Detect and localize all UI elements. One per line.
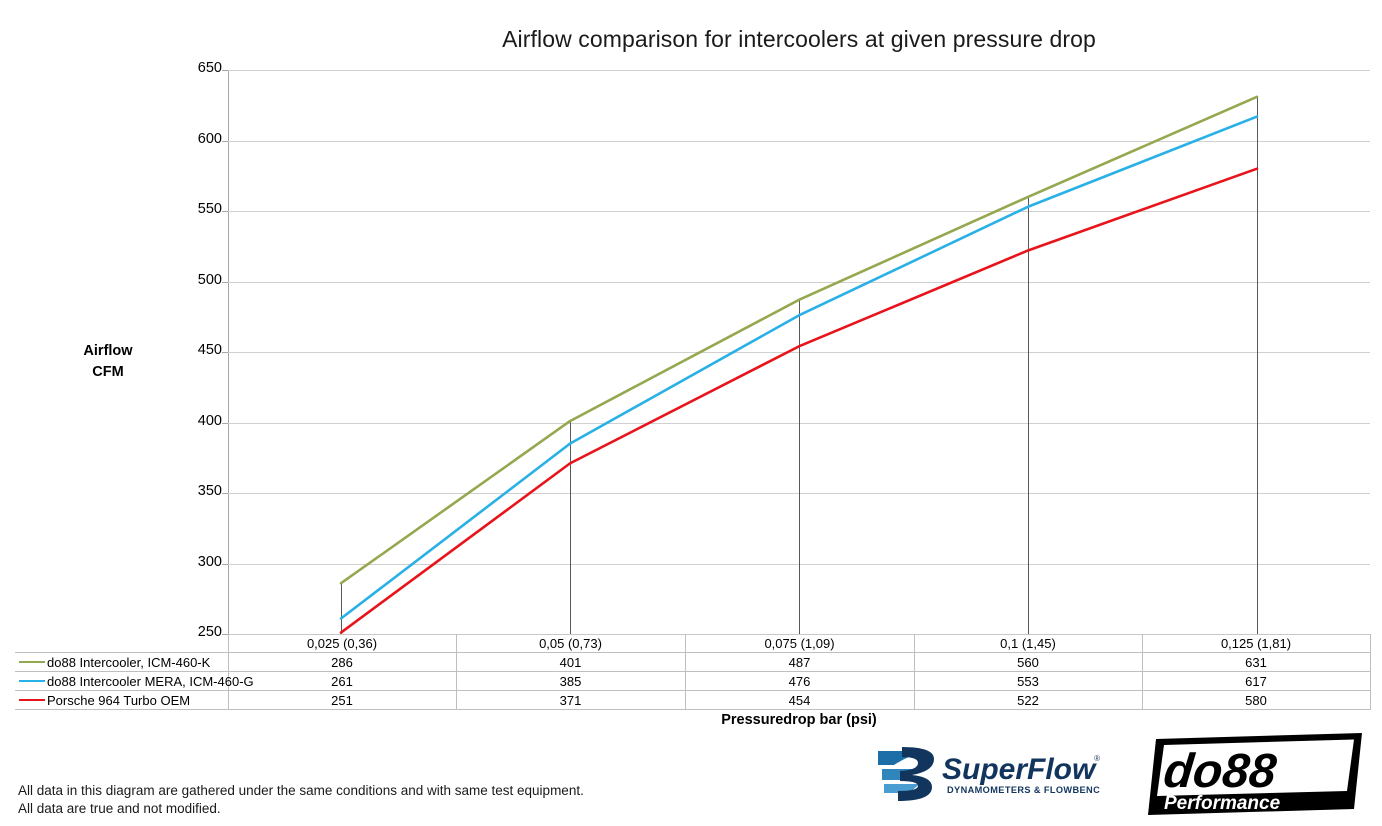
superflow-tagline: DYNAMOMETERS & FLOWBENCHES [947, 785, 1100, 795]
legend-label: Porsche 964 Turbo OEM [47, 693, 190, 708]
x-axis-category-label: 0,125 (1,81) [1142, 634, 1370, 653]
x-axis-category-label: 0,025 (0,36) [228, 634, 456, 653]
legend-entry: Porsche 964 Turbo OEM [15, 691, 228, 710]
table-row: Porsche 964 Turbo OEM251371454522580 [15, 691, 1370, 710]
y-axis-tick-label: 550 [178, 201, 222, 217]
superflow-swoosh-icon [878, 747, 934, 801]
x-axis-category-label: 0,05 (0,73) [456, 634, 685, 653]
y-axis-tick-label: 650 [178, 60, 222, 76]
table-cell-value: 251 [228, 691, 456, 710]
series-lines [228, 70, 1370, 634]
table-cell-value: 631 [1142, 653, 1370, 672]
table-cell-value: 553 [914, 672, 1142, 691]
x-axis-title: Pressuredrop bar (psi) [228, 712, 1370, 728]
y-axis-tick-label: 500 [178, 272, 222, 288]
do88-wordmark: do88 [1161, 744, 1279, 798]
legend-line-swatch-icon [19, 680, 45, 682]
table-cell-value: 371 [456, 691, 685, 710]
table-row: do88 Intercooler MERA, ICM-460-G26138547… [15, 672, 1370, 691]
table-cell-value: 385 [456, 672, 685, 691]
table-header-row: 0,025 (0,36)0,05 (0,73)0,075 (1,09)0,1 (… [15, 634, 1370, 653]
table-cell-value: 522 [914, 691, 1142, 710]
y-axis-tick-label: 400 [178, 413, 222, 429]
legend-entry: do88 Intercooler MERA, ICM-460-G [15, 672, 228, 691]
table-cell-value: 487 [685, 653, 914, 672]
series-line [341, 169, 1257, 633]
x-axis-category-label: 0,1 (1,45) [914, 634, 1142, 653]
y-axis-tick-label: 600 [178, 131, 222, 147]
table-row: do88 Intercooler, ICM-460-K2864014875606… [15, 653, 1370, 672]
superflow-trademark: ® [1094, 754, 1100, 763]
table-header-legend-cell [15, 634, 228, 653]
table-cell-value: 401 [456, 653, 685, 672]
table-cell-value: 476 [685, 672, 914, 691]
legend-line-swatch-icon [19, 661, 45, 663]
page-title: Airflow comparison for intercoolers at g… [228, 26, 1370, 53]
footnote-line-2: All data are true and not modified. [18, 800, 584, 818]
table-cell-value: 286 [228, 653, 456, 672]
table-cell-value: 454 [685, 691, 914, 710]
y-axis-title-line2: CFM [48, 362, 168, 383]
do88-tagline: Performance [1164, 793, 1281, 814]
y-axis-tick-label: 300 [178, 554, 222, 570]
y-axis-title-line1: Airflow [48, 341, 168, 362]
legend-label: do88 Intercooler, ICM-460-K [47, 655, 210, 670]
y-axis-title: Airflow CFM [48, 341, 168, 383]
table-cell-value: 560 [914, 653, 1142, 672]
footnote-line-1: All data in this diagram are gathered un… [18, 782, 584, 800]
legend-entry: do88 Intercooler, ICM-460-K [15, 653, 228, 672]
series-line [341, 117, 1257, 619]
data-table: 0,025 (0,36)0,05 (0,73)0,075 (1,09)0,1 (… [15, 634, 1371, 710]
table-cell-value: 617 [1142, 672, 1370, 691]
plot-area [228, 70, 1370, 634]
x-axis-category-label: 0,075 (1,09) [685, 634, 914, 653]
y-axis-tick-label: 450 [178, 342, 222, 358]
do88-logo: do88 Performance [1148, 733, 1362, 815]
table-cell-value: 580 [1142, 691, 1370, 710]
legend-line-swatch-icon [19, 699, 45, 701]
legend-label: do88 Intercooler MERA, ICM-460-G [47, 674, 254, 689]
footnote: All data in this diagram are gathered un… [18, 782, 584, 818]
superflow-logo: SuperFlow ® DYNAMOMETERS & FLOWBENCHES [872, 741, 1100, 807]
superflow-wordmark: SuperFlow [942, 753, 1097, 786]
y-axis-tick-label: 350 [178, 483, 222, 499]
table-cell-value: 261 [228, 672, 456, 691]
